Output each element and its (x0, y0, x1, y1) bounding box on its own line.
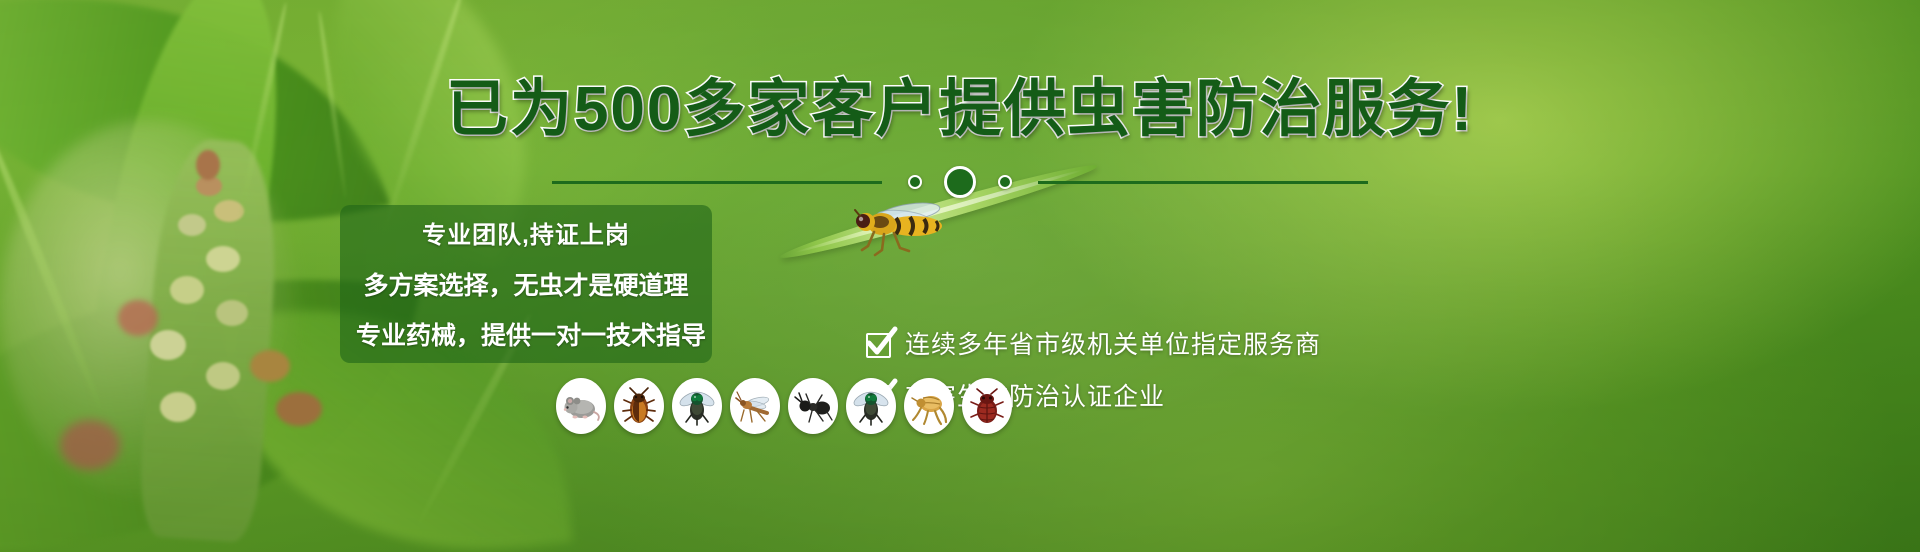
divider-dot-small-left (908, 175, 922, 189)
divider-dot-large (944, 166, 976, 198)
cockroach-icon (614, 378, 664, 434)
hoverfly-illustration (852, 198, 956, 260)
divider-line-right (1038, 181, 1368, 184)
plant-bud (216, 300, 248, 326)
flea-icon (904, 378, 954, 434)
selling-point-line-2: 多方案选择，无虫才是硬道理 (356, 269, 696, 303)
plant-bud (160, 392, 196, 422)
promo-banner: 已为500多家客户提供虫害防治服务! 专业团队,持证上岗 多方案选择，无虫才是硬… (0, 0, 1920, 552)
plant-bud (250, 350, 290, 382)
fly-icon (672, 378, 722, 434)
plant-bud (118, 300, 158, 336)
selling-point-line-1: 专业团队,持证上岗 (356, 219, 696, 253)
divider-dots (882, 166, 1038, 198)
plant-bud (150, 330, 186, 360)
plant-bud (60, 420, 120, 470)
pest-icon-strip (556, 378, 1016, 434)
plant-bud (170, 276, 204, 304)
page-title: 已为500多家客户提供虫害防治服务! (0, 74, 1920, 146)
plant-bud (206, 246, 240, 272)
housefly-icon (846, 378, 896, 434)
mosquito-icon (730, 378, 780, 434)
decorative-divider (0, 162, 1920, 202)
plant-bud (206, 362, 240, 390)
selling-point-line-3: 专业药械，提供一对一技术指导 (356, 319, 696, 353)
plant-bud (276, 392, 322, 426)
bedbug-icon (962, 378, 1012, 434)
credential-label: 连续多年省市级机关单位指定服务商 (905, 330, 1321, 360)
ant-icon (788, 378, 838, 434)
checkbox-checked-icon (866, 333, 891, 358)
divider-line-left (552, 181, 882, 184)
list-item: 连续多年省市级机关单位指定服务商 (866, 330, 1626, 360)
selling-points-panel: 专业团队,持证上岗 多方案选择，无虫才是硬道理 专业药械，提供一对一技术指导 (340, 205, 712, 363)
divider-dot-small-right (998, 175, 1012, 189)
rodent-icon (556, 378, 606, 434)
plant-bud (178, 214, 206, 236)
